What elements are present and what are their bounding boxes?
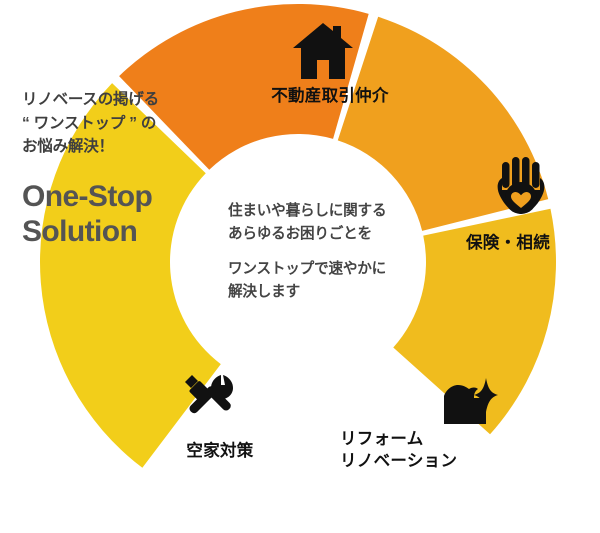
segment-label-vacant-house: 空家対策 — [150, 440, 290, 462]
center-paragraph-1: 住まいや暮らしに関する あらゆるお困りごとを — [228, 200, 438, 246]
infographic-stage: リノベースの掲げる “ ワンストップ ” の お悩み解決！ One-Stop S… — [0, 0, 600, 533]
center-paragraph-2: ワンストップで速やかに 解決します — [228, 258, 438, 304]
segment-label-real-estate: 不動産取引仲介 — [245, 85, 415, 107]
hammer-wrench-icon — [178, 372, 240, 430]
segment-label-reform-renovation: リフォーム リノベーション — [340, 428, 530, 472]
center-copy-block: 住まいや暮らしに関する あらゆるお困りごとを ワンストップで速やかに 解決します — [228, 200, 438, 304]
left-copy-block: リノベースの掲げる “ ワンストップ ” の お悩み解決！ One-Stop S… — [22, 88, 227, 249]
page-title: One-Stop Solution — [22, 179, 227, 250]
segment-label-insurance-inheritance: 保険・相続 — [466, 232, 596, 254]
house-icon — [292, 22, 354, 80]
hand-heart-icon — [496, 156, 548, 216]
lede-text: リノベースの掲げる “ ワンストップ ” の お悩み解決！ — [22, 88, 227, 159]
sparkle-house-icon — [436, 378, 498, 428]
